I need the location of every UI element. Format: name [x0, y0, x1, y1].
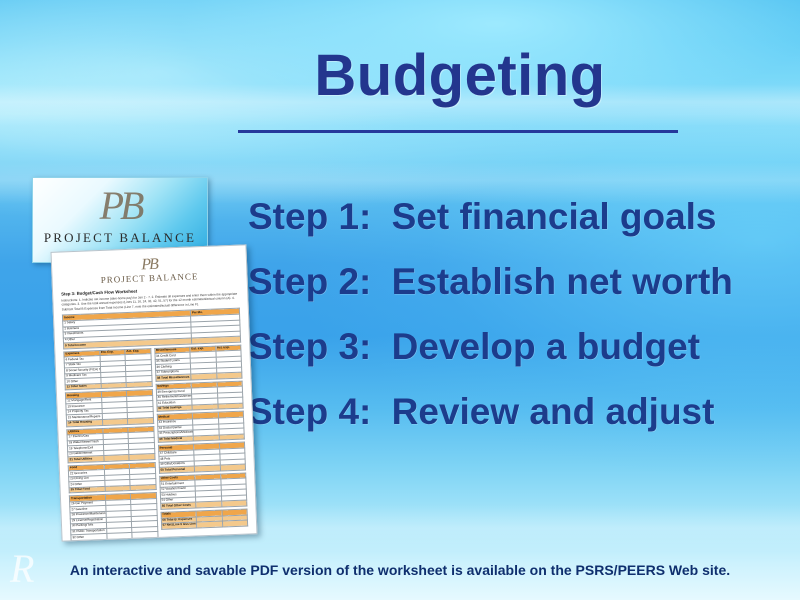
footer-note: An interactive and savable PDF version o…	[0, 562, 800, 578]
table-cell-value	[103, 455, 129, 462]
table-cell-value	[219, 434, 245, 441]
title-divider	[238, 130, 678, 133]
table-cell-value	[191, 336, 240, 343]
expense-section-table: Personal47 Childcare48 Pets49 Gifts/Dona…	[158, 442, 247, 474]
list-item: Step 1: Set financial goals	[248, 198, 788, 235]
table-cell-label: 50 Total Personal	[159, 466, 195, 473]
monogram-icon: PB	[100, 182, 141, 229]
table-cell-value	[216, 372, 242, 379]
expense-section-table: Utilities17 Electric/Gas18 Water/Sewer/T…	[66, 426, 155, 464]
expense-section-table: Housing12 Mortgage/Rent13 Insurance14 Pr…	[65, 389, 154, 427]
income-table-body: IncomePer Mo.1 Salary2 Business3 Investm…	[62, 309, 240, 349]
table-cell-value	[126, 381, 152, 388]
expense-section-table: Food22 Groceries23 Dining Out24 Other25 …	[68, 462, 157, 494]
table-cell-value	[193, 435, 219, 442]
expense-column-left: ExpensesEst. Exp.Act. Exp.6 Federal Tax7…	[63, 348, 158, 542]
step-label: Step 3:	[248, 326, 371, 367]
expense-section-table: ExpensesEst. Exp.Act. Exp.6 Federal Tax7…	[63, 348, 152, 391]
step-text: Establish net worth	[392, 261, 733, 302]
table-cell-label: 25 Total Food	[69, 486, 105, 493]
page-title: Budgeting	[200, 46, 720, 107]
slide: Budgeting Step 1: Set financial goals St…	[0, 0, 800, 600]
table-cell-value	[217, 403, 243, 410]
worksheet-thumbnail: PB PROJECT BALANCE Step 3: Budget/Cash F…	[51, 244, 258, 541]
table-cell-label: 46 Total Medical	[158, 436, 194, 443]
expense-section-table: Savings39 Emergency Fund40 Retirement/In…	[155, 380, 244, 412]
table-cell-label: 42 Total Savings	[157, 405, 193, 412]
table-cell-label: 38 Total Miscellaneous	[155, 374, 191, 381]
step-text: Develop a budget	[392, 326, 700, 367]
table-cell-value	[101, 382, 127, 389]
table-cell-value	[107, 538, 133, 542]
list-item: Step 2: Establish net worth	[248, 263, 788, 300]
list-item: Step 4: Review and adjust	[248, 393, 788, 430]
table-cell-value	[194, 465, 220, 472]
table-cell-value	[220, 464, 246, 471]
worksheet-brand: PB PROJECT BALANCE	[60, 254, 239, 287]
step-text: Set financial goals	[392, 196, 717, 237]
table-cell-value	[192, 404, 218, 411]
table-cell-label: 57 Net (Line 5 less Line 56)	[161, 522, 197, 529]
table-cell-value	[102, 419, 128, 426]
step-label: Step 2:	[248, 261, 371, 302]
logo-card-name: PROJECT BALANCE	[33, 230, 207, 246]
expense-section-table: Transportation26 Car Payment27 Gasoline2…	[69, 492, 158, 541]
table-cell-label: 33 Total Transportation	[71, 539, 107, 542]
table-cell-value	[222, 520, 248, 527]
table-cell-value	[196, 501, 222, 508]
table-cell-label: 21 Total Utilities	[68, 456, 104, 463]
table-cell-value	[221, 500, 247, 507]
expense-section-table: Medical43 Insurance44 Doctor/Dental45 Pr…	[156, 411, 245, 443]
step-label: Step 1:	[248, 196, 371, 237]
expense-section-table: MiscellaneousEst. Exp.Act. Exp.34 Credit…	[154, 344, 243, 382]
table-cell-label: 11 Total Taxes	[65, 383, 101, 390]
steps-list: Step 1: Set financial goals Step 2: Esta…	[248, 198, 788, 458]
table-cell-value	[191, 373, 217, 380]
table-cell-value	[197, 521, 223, 528]
table-cell-value	[130, 484, 156, 491]
table-cell-value	[132, 537, 158, 542]
table-cell-value	[127, 418, 153, 425]
expense-columns: ExpensesEst. Exp.Act. Exp.6 Federal Tax7…	[63, 344, 248, 541]
step-label: Step 4:	[248, 391, 371, 432]
expense-section-table: Totals56 Total B: Expenses57 Net (Line 5…	[160, 508, 248, 529]
table-cell-value	[105, 485, 131, 492]
table-cell-label: 16 Total Housing	[67, 420, 103, 427]
table-cell-value	[129, 454, 155, 461]
step-text: Review and adjust	[392, 391, 715, 432]
expense-column-right: MiscellaneousEst. Exp.Act. Exp.34 Credit…	[154, 344, 249, 541]
income-table: IncomePer Mo.1 Salary2 Business3 Investm…	[62, 308, 241, 349]
expense-section-table: Other Costs51 Entertainment52 Vacation/T…	[159, 472, 248, 510]
list-item: Step 3: Develop a budget	[248, 328, 788, 365]
table-cell-label: 55 Total Other Costs	[160, 502, 196, 509]
